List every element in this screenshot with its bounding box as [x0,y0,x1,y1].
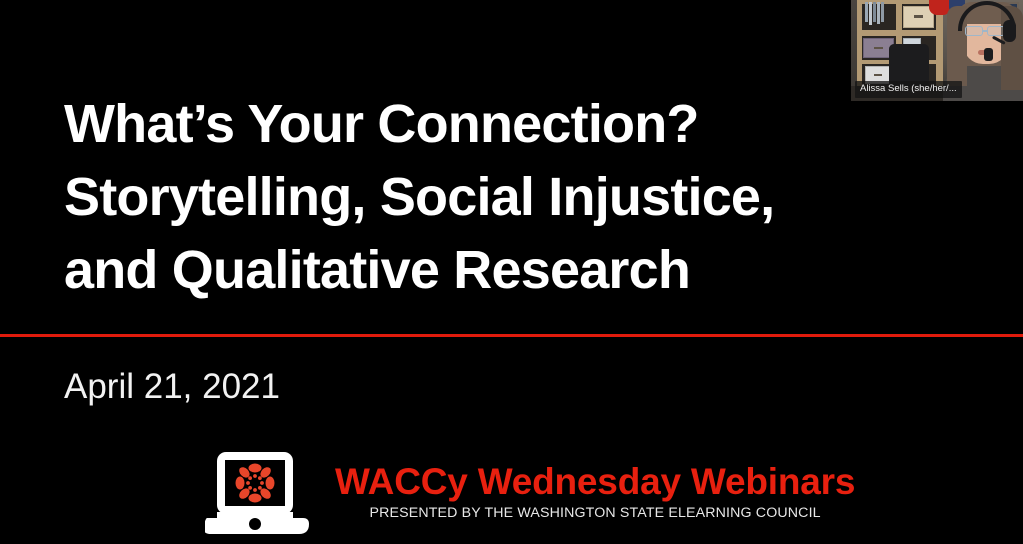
title-line-3: and Qualitative Research [64,234,884,307]
slide-title: What’s Your Connection? Storytelling, So… [64,88,884,307]
brand-title: WACCy Wednesday Webinars [335,460,855,503]
participant-video-thumbnail[interactable]: Alissa Sells (she/her/... [851,0,1023,101]
participant-name-label: Alissa Sells (she/her/... [855,81,962,98]
title-line-2: Storytelling, Social Injustice, [64,161,884,234]
waccy-logo-lockup: WACCy Wednesday Webinars PRESENTED BY TH… [205,450,855,542]
title-line-1: What’s Your Connection? [64,88,884,161]
headset-earcup-icon [1003,20,1016,42]
slide-date: April 21, 2021 [64,366,280,408]
headset-mic-tip-icon [984,48,993,61]
red-divider-rule [0,334,1023,337]
logo-text-block: WACCy Wednesday Webinars PRESENTED BY TH… [335,450,855,522]
presentation-slide: What’s Your Connection? Storytelling, So… [0,0,1023,544]
laptop-with-canvas-logo-icon [205,450,317,542]
brand-subtitle: PRESENTED BY THE WASHINGTON STATE ELEARN… [369,504,820,522]
